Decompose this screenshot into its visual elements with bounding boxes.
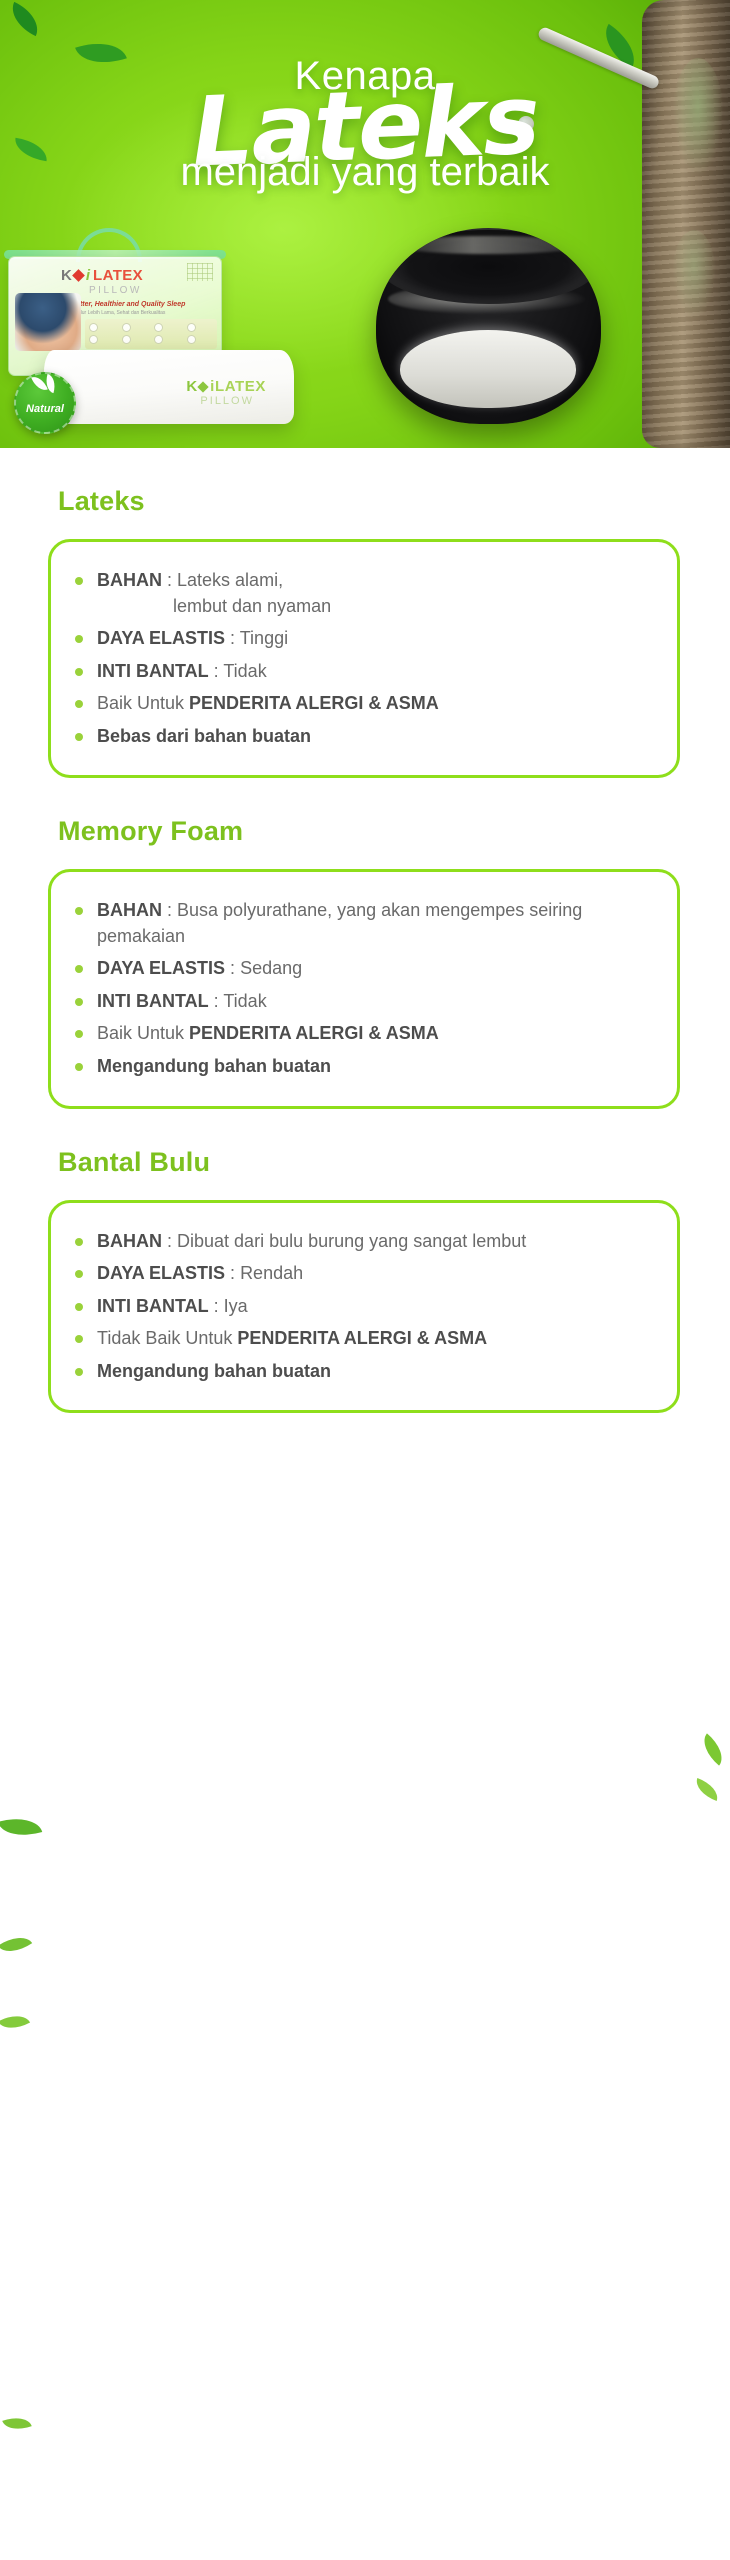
- section-title: Bantal Bulu: [0, 1147, 730, 1178]
- spec-separator: :: [225, 1263, 240, 1283]
- spec-separator: :: [162, 900, 177, 920]
- pillow-logo: K iLATEX: [186, 378, 266, 395]
- spec-label: INTI BANTAL: [97, 1296, 209, 1316]
- leaf-icon: [2, 2412, 32, 2435]
- feature-icon: [122, 335, 131, 344]
- pillow-logo-diamond: [198, 381, 209, 392]
- package-tagline-en: Better, Healthier and Quality Sleep: [71, 301, 185, 308]
- leaf-icon: [0, 1811, 42, 1843]
- comparison-section: Bantal BuluBAHAN : Dibuat dari bulu buru…: [0, 1147, 730, 1414]
- sleeping-person-photo: [15, 293, 81, 351]
- hero-banner: K i LATEX PILLOW Better, Healthier and Q…: [0, 0, 730, 448]
- leaf-icon: [692, 1778, 722, 1801]
- spec-separator: :: [162, 570, 177, 590]
- spec-label: BAHAN: [97, 900, 162, 920]
- spec-value: Rendah: [240, 1263, 303, 1283]
- spec-item: Tidak Baik Untuk PENDERITA ALERGI & ASMA: [73, 1326, 659, 1352]
- trunk-moss: [672, 230, 716, 320]
- leaf-icon: [5, 2, 45, 36]
- spec-value: Tidak: [223, 661, 266, 681]
- spec-separator: :: [209, 991, 224, 1011]
- spec-label: INTI BANTAL: [97, 661, 209, 681]
- spec-item: Bebas dari bahan buatan: [73, 724, 659, 750]
- spec-label: DAYA ELASTIS: [97, 628, 225, 648]
- package-grid-pattern: [187, 263, 213, 281]
- spec-item: BAHAN : Dibuat dari bulu burung yang san…: [73, 1229, 659, 1255]
- spec-item: Mengandung bahan buatan: [73, 1054, 659, 1080]
- spec-card: BAHAN : Busa polyurathane, yang akan men…: [48, 869, 680, 1108]
- spec-emphasis: Mengandung bahan buatan: [97, 1056, 331, 1076]
- feature-icon: [89, 323, 98, 332]
- spec-item: BAHAN : Lateks alami,lembut dan nyaman: [73, 568, 659, 619]
- spec-label: BAHAN: [97, 570, 162, 590]
- pillow-logo-latex: iLATEX: [210, 378, 266, 395]
- hero-line-3: menjadi yang terbaik: [0, 150, 730, 195]
- comparison-sections: LateksBAHAN : Lateks alami,lembut dan ny…: [0, 486, 730, 1533]
- spec-item: INTI BANTAL : Iya: [73, 1294, 659, 1320]
- spec-item: DAYA ELASTIS : Rendah: [73, 1261, 659, 1287]
- feature-icon: [89, 335, 98, 344]
- bowl-rim-highlight: [394, 236, 582, 254]
- spec-emphasis: Bebas dari bahan buatan: [97, 726, 311, 746]
- spec-item: INTI BANTAL : Tidak: [73, 659, 659, 685]
- spec-emphasis: Mengandung bahan buatan: [97, 1361, 331, 1381]
- spec-separator: :: [225, 628, 240, 648]
- spec-label: INTI BANTAL: [97, 991, 209, 1011]
- spec-prefix: Tidak Baik Untuk: [97, 1328, 237, 1348]
- natural-badge: Natural: [14, 372, 76, 434]
- spec-separator: :: [209, 1296, 224, 1316]
- comparison-section: LateksBAHAN : Lateks alami,lembut dan ny…: [0, 486, 730, 778]
- spec-emphasis: PENDERITA ALERGI & ASMA: [237, 1328, 487, 1348]
- spec-emphasis: PENDERITA ALERGI & ASMA: [189, 693, 439, 713]
- spec-value: Tinggi: [240, 628, 288, 648]
- feature-icon: [154, 323, 163, 332]
- spec-item: Baik Untuk PENDERITA ALERGI & ASMA: [73, 691, 659, 717]
- spec-label: DAYA ELASTIS: [97, 1263, 225, 1283]
- package-tagline-id: Tidur Lebih Lama, Sehat dan Berkualitas: [75, 310, 165, 316]
- section-title: Memory Foam: [0, 816, 730, 847]
- spec-value: Sedang: [240, 958, 302, 978]
- package-logo-diamond: [72, 269, 85, 282]
- spec-list: BAHAN : Lateks alami,lembut dan nyamanDA…: [73, 568, 659, 749]
- spec-value: Lateks alami,: [177, 570, 283, 590]
- spec-card: BAHAN : Dibuat dari bulu burung yang san…: [48, 1200, 680, 1414]
- natural-badge-label: Natural: [26, 403, 64, 415]
- package-logo-i: i: [86, 267, 90, 284]
- package-logo-pillow: PILLOW: [89, 285, 142, 296]
- spec-card: BAHAN : Lateks alami,lembut dan nyamanDA…: [48, 539, 680, 778]
- spec-value: Busa polyurathane,: [177, 900, 332, 920]
- spec-list: BAHAN : Busa polyurathane, yang akan men…: [73, 898, 659, 1079]
- spec-label: DAYA ELASTIS: [97, 958, 225, 978]
- package-logo: K i LATEX: [61, 267, 143, 284]
- spec-separator: :: [225, 958, 240, 978]
- spec-value-cont: burung yang sangat lembut: [308, 1231, 526, 1251]
- latex-pillow-product: K iLATEX PILLOW: [44, 350, 294, 424]
- spec-value: Iya: [224, 1296, 248, 1316]
- spec-value: Dibuat dari bulu: [177, 1231, 303, 1251]
- package-logo-k: K: [61, 267, 71, 284]
- comparison-section: Memory FoamBAHAN : Busa polyurathane, ya…: [0, 816, 730, 1108]
- latex-collection-bowl: [376, 228, 601, 424]
- spec-prefix: Baik Untuk: [97, 1023, 189, 1043]
- sections-host: LateksBAHAN : Lateks alami,lembut dan ny…: [0, 486, 730, 1413]
- spec-item: BAHAN : Busa polyurathane, yang akan men…: [73, 898, 659, 949]
- spec-item: DAYA ELASTIS : Tinggi: [73, 626, 659, 652]
- spec-label: BAHAN: [97, 1231, 162, 1251]
- pillow-logo-pillow: PILLOW: [200, 395, 254, 407]
- leaf-icon: [0, 1929, 32, 1960]
- spec-value: Tidak: [223, 991, 266, 1011]
- spec-item: DAYA ELASTIS : Sedang: [73, 956, 659, 982]
- spec-item: INTI BANTAL : Tidak: [73, 989, 659, 1015]
- feature-icon: [187, 323, 196, 332]
- spec-separator: :: [209, 661, 224, 681]
- leaf-icon: [0, 2008, 30, 2035]
- spec-item: Mengandung bahan buatan: [73, 1359, 659, 1385]
- section-title: Lateks: [0, 486, 730, 517]
- package-logo-latex: LATEX: [93, 267, 143, 284]
- feature-icon: [122, 323, 131, 332]
- spec-value-cont: lembut dan nyaman: [97, 594, 659, 620]
- spec-list: BAHAN : Dibuat dari bulu burung yang san…: [73, 1229, 659, 1385]
- spec-separator: :: [162, 1231, 177, 1251]
- pillow-logo-k: K: [186, 378, 196, 395]
- leaf-icon: [696, 1733, 730, 1765]
- spec-item: Baik Untuk PENDERITA ALERGI & ASMA: [73, 1021, 659, 1047]
- feature-icon: [187, 335, 196, 344]
- spec-prefix: Baik Untuk: [97, 693, 189, 713]
- package-feature-icons: [89, 323, 213, 344]
- infographic-page: K i LATEX PILLOW Better, Healthier and Q…: [0, 0, 730, 2560]
- feature-icon: [154, 335, 163, 344]
- latex-milk: [400, 330, 576, 408]
- spec-emphasis: PENDERITA ALERGI & ASMA: [189, 1023, 439, 1043]
